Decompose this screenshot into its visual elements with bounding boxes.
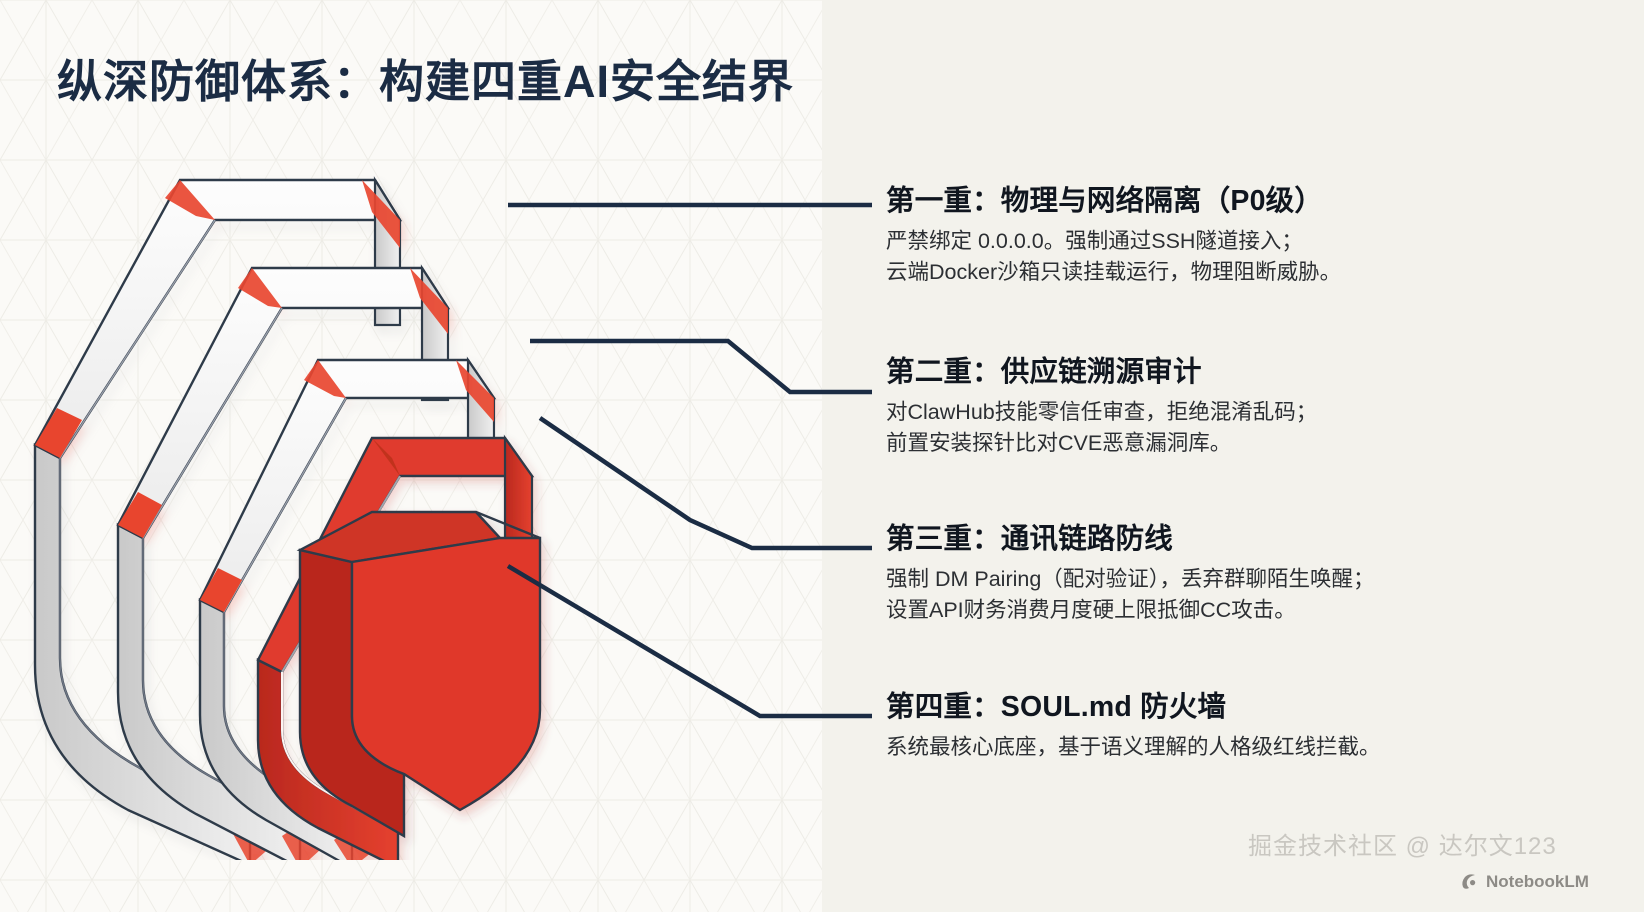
page-title: 纵深防御体系：构建四重AI安全结界 <box>57 45 794 110</box>
layer-3-body-line-2: 设置API财务消费月度硬上限抵御CC攻击。 <box>886 598 1296 622</box>
layer-3-body: 强制 DM Pairing（配对验证），丢弃群聊陌生唤醒； 设置API财务消费月… <box>886 564 1375 625</box>
layer-4-heading: 第四重：SOUL.md 防火墙 <box>886 692 1381 723</box>
layer-item-2: 第二重：供应链溯源审计 对ClawHub技能零信任审查，拒绝混淆乱码； 前置安装… <box>886 357 1317 458</box>
layer-4-body: 系统最核心底座，基于语义理解的人格级红线拦截。 <box>886 732 1381 763</box>
layer-2-body-line-1: 对ClawHub技能零信任审查，拒绝混淆乱码； <box>886 400 1317 424</box>
layer-item-3: 第三重：通讯链路防线 强制 DM Pairing（配对验证），丢弃群聊陌生唤醒；… <box>886 524 1375 625</box>
notebooklm-label: NotebookLM <box>1486 872 1589 892</box>
layer-item-1: 第一重：物理与网络隔离（P0级） 严禁绑定 0.0.0.0。强制通过SSH隧道接… <box>886 186 1341 287</box>
layer-4-body-line-1: 系统最核心底座，基于语义理解的人格级红线拦截。 <box>886 735 1381 759</box>
layer-1-heading: 第一重：物理与网络隔离（P0级） <box>886 186 1341 217</box>
layer-2-body-line-2: 前置安装探针比对CVE恶意漏洞库。 <box>886 431 1231 455</box>
layer-1-body: 严禁绑定 0.0.0.0。强制通过SSH隧道接入； 云端Docker沙箱只读挂载… <box>886 226 1341 287</box>
layer-item-4: 第四重：SOUL.md 防火墙 系统最核心底座，基于语义理解的人格级红线拦截。 <box>886 692 1381 763</box>
defense-in-depth-shield-graphic <box>0 120 830 860</box>
shield-core <box>300 512 540 836</box>
layer-1-body-line-2: 云端Docker沙箱只读挂载运行，物理阻断威胁。 <box>886 260 1341 284</box>
layer-3-body-line-1: 强制 DM Pairing（配对验证），丢弃群聊陌生唤醒； <box>886 567 1375 591</box>
slide-canvas: 第一重：物理与网络隔离（P0级） 严禁绑定 0.0.0.0。强制通过SSH隧道接… <box>0 0 1644 912</box>
layer-3-heading: 第三重：通讯链路防线 <box>886 524 1375 555</box>
notebooklm-brand: NotebookLM <box>1460 872 1589 892</box>
layer-1-body-line-1: 严禁绑定 0.0.0.0。强制通过SSH隧道接入； <box>886 229 1303 253</box>
layer-2-heading: 第二重：供应链溯源审计 <box>886 357 1317 388</box>
notebooklm-logo-icon <box>1460 873 1480 891</box>
layer-2-body: 对ClawHub技能零信任审查，拒绝混淆乱码； 前置安装探针比对CVE恶意漏洞库… <box>886 397 1317 458</box>
watermark-text: 掘金技术社区 @ 达尔文123 <box>1248 826 1557 861</box>
